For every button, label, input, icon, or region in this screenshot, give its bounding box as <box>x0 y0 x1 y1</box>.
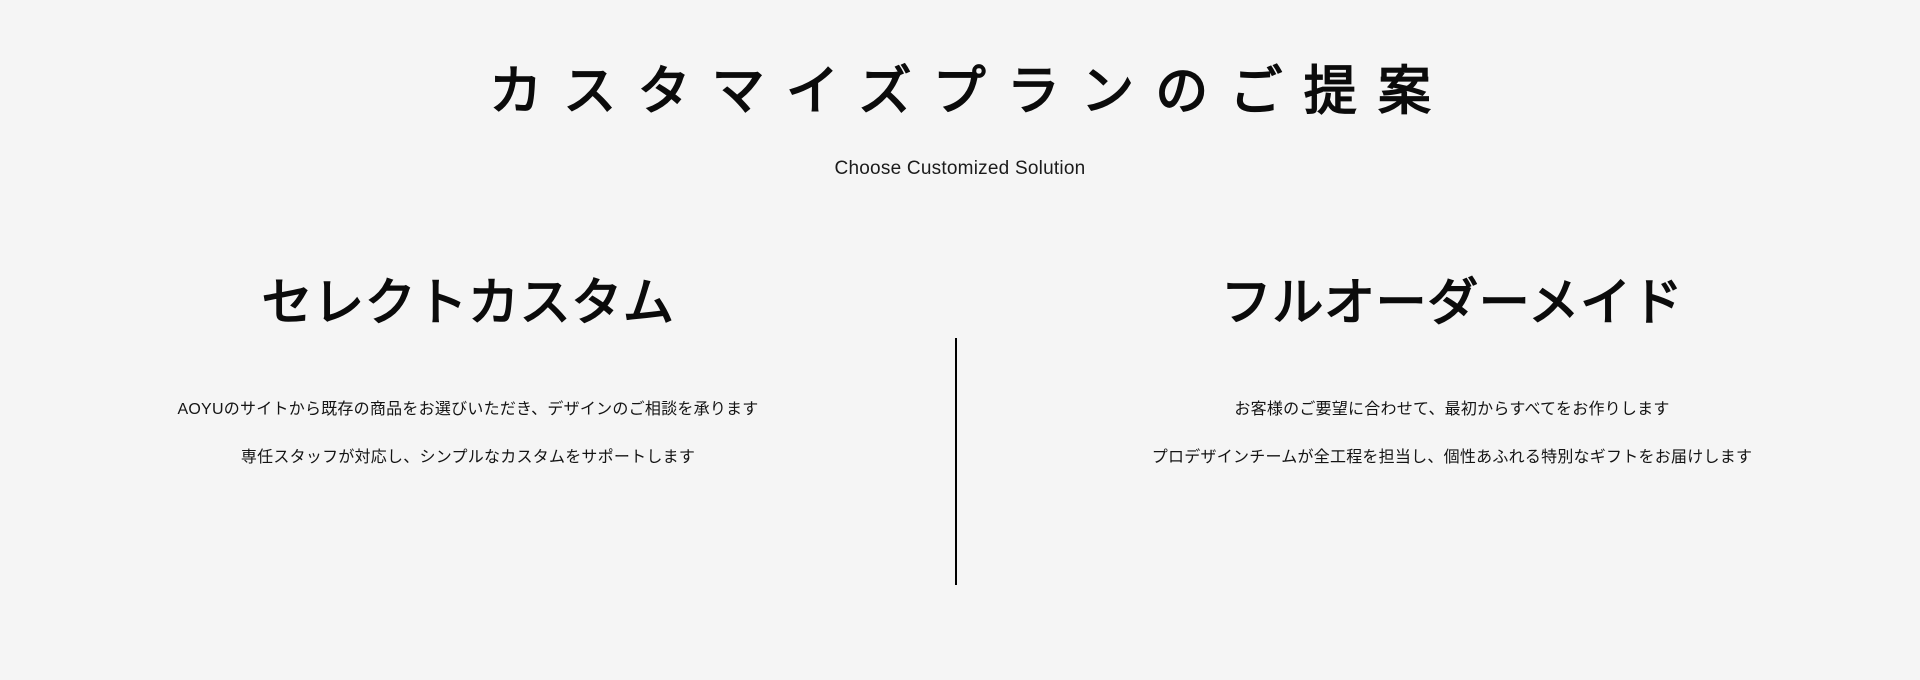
page-subtitle: Choose Customized Solution <box>0 121 1920 182</box>
plan-description-select-custom: AOYUのサイトから既存の商品をお選びいただき、デザインのご相談を承ります 専任… <box>38 335 898 469</box>
plan-description-line: プロデザインチームが全工程を担当し、個性あふれる特別なギフトをお届けします <box>1022 447 1882 469</box>
plan-card-full-order-made: フルオーダーメイド お客様のご要望に合わせて、最初からすべてをお作りします プロ… <box>1022 255 1882 469</box>
page-title: カスタマイズプランのご提案 <box>0 0 1920 121</box>
plan-description-full-order-made: お客様のご要望に合わせて、最初からすべてをお作りします プロデザインチームが全工… <box>1022 335 1882 469</box>
plan-description-line: AOYUのサイトから既存の商品をお選びいただき、デザインのご相談を承ります <box>38 399 898 421</box>
plan-title-full-order-made: フルオーダーメイド <box>1022 255 1882 335</box>
plan-description-line: 専任スタッフが対応し、シンプルなカスタムをサポートします <box>38 447 898 469</box>
plan-card-select-custom: セレクトカスタム AOYUのサイトから既存の商品をお選びいただき、デザインのご相… <box>38 255 898 469</box>
section-header: カスタマイズプランのご提案 Choose Customized Solution <box>0 0 1920 182</box>
plan-title-select-custom: セレクトカスタム <box>38 255 898 335</box>
column-divider <box>955 338 957 585</box>
plan-description-line: お客様のご要望に合わせて、最初からすべてをお作りします <box>1022 399 1882 421</box>
customize-plan-section: カスタマイズプランのご提案 Choose Customized Solution… <box>0 0 1920 680</box>
plan-columns: セレクトカスタム AOYUのサイトから既存の商品をお選びいただき、デザインのご相… <box>0 255 1920 615</box>
